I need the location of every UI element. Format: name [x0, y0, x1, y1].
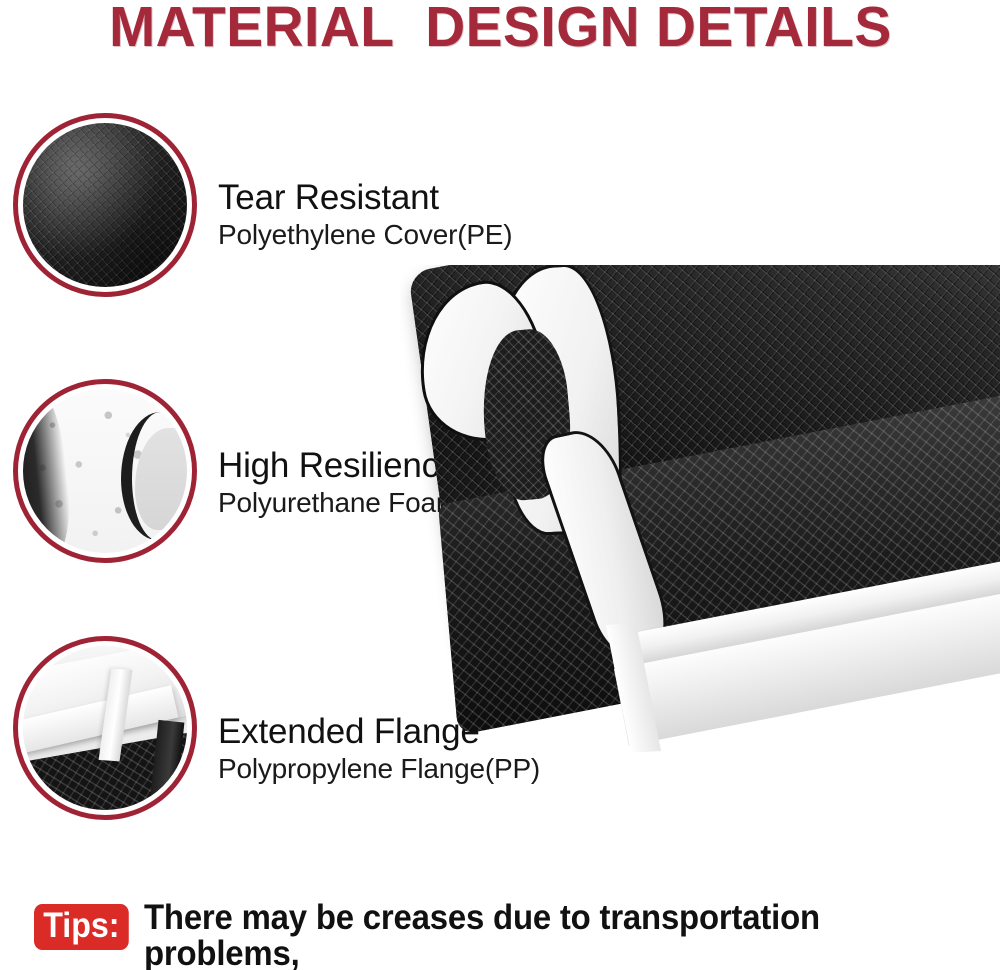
tips-badge: Tips: [34, 904, 129, 950]
pe-texture-image [23, 123, 187, 287]
feature-swatch-tear-resistant [13, 113, 197, 297]
pp-flange-texture-image [23, 646, 187, 810]
pu-foam-texture-image [23, 389, 187, 553]
feature-heading: Tear Resistant [218, 178, 512, 218]
feature-swatch-extended-flange [13, 636, 197, 820]
tips-row: Tips: There may be creases due to transp… [34, 900, 984, 970]
pu-dark-arc [121, 412, 187, 540]
product-photo [400, 265, 1000, 825]
page-title: MATERIAL DESIGN DETAILS [109, 0, 892, 55]
feature-subtitle: Polyethylene Cover(PE) [218, 218, 512, 252]
pu-dark-edge [23, 389, 75, 553]
infographic-page: MATERIAL DESIGN DETAILS Tear Resistant P… [0, 0, 1000, 970]
feature-swatch-high-resilience [13, 379, 197, 563]
tips-text: There may be creases due to transportati… [144, 900, 934, 970]
title-bar: MATERIAL DESIGN DETAILS [0, 0, 1000, 62]
tips-line-1: There may be creases due to transportati… [144, 900, 934, 970]
feature-text-tear-resistant: Tear Resistant Polyethylene Cover(PE) [218, 178, 512, 252]
